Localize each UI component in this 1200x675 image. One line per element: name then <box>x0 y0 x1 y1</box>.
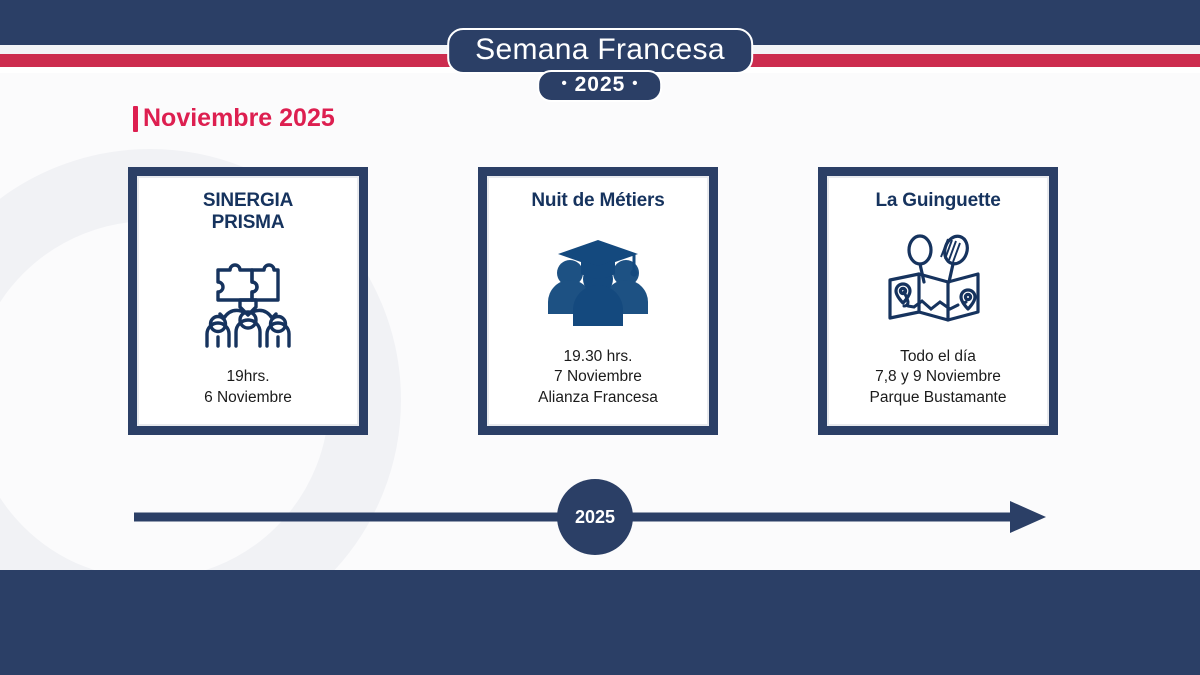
event-card-meta: 19hrs. 6 Noviembre <box>204 367 292 414</box>
graduates-group-icon <box>543 234 653 326</box>
event-card-inner: La Guinguette <box>827 176 1049 426</box>
event-card-meta-line-2: 7,8 y 9 Noviembre <box>869 367 1006 387</box>
event-card-inner: SINERGIA PRISMA <box>137 176 359 426</box>
event-card-title-line-1: La Guinguette <box>875 190 1000 212</box>
event-card-title-line-2: PRISMA <box>203 212 293 234</box>
event-card-meta: Todo el día 7,8 y 9 Noviembre Parque Bus… <box>869 347 1006 414</box>
event-card-title: SINERGIA PRISMA <box>203 190 293 235</box>
map-spoon-fork-icon <box>882 234 994 326</box>
month-accent-bar <box>133 106 138 132</box>
event-card-sinergia-prisma[interactable]: SINERGIA PRISMA <box>128 167 368 435</box>
event-card-inner: Nuit de Métiers <box>487 176 709 426</box>
timeline-year-label: 2025 <box>575 507 615 527</box>
event-card-title-line-1: Nuit de Métiers <box>531 190 664 212</box>
slide-canvas: Semana Francesa • 2025 • Noviembre 2025 … <box>0 0 1200 675</box>
event-card-la-guinguette[interactable]: La Guinguette <box>818 167 1058 435</box>
event-card-meta-line-1: 19.30 hrs. <box>538 347 658 367</box>
event-card-title: La Guinguette <box>875 190 1000 212</box>
event-card-icon-slot <box>147 235 349 367</box>
puzzle-teamwork-icon <box>194 254 302 348</box>
timeline: 2025 <box>0 470 1200 570</box>
timeline-arrow-head-icon <box>1010 501 1046 533</box>
event-card-meta: 19.30 hrs. 7 Noviembre Alianza Francesa <box>538 347 658 414</box>
event-card-meta-line-1: Todo el día <box>869 347 1006 367</box>
event-card-meta-line-2: 7 Noviembre <box>538 367 658 387</box>
banner-year-pill: • 2025 • <box>538 70 663 102</box>
event-card-title-line-1: SINERGIA <box>203 190 293 212</box>
event-card-meta-line-3: Parque Bustamante <box>869 388 1006 408</box>
month-label: Noviembre 2025 <box>143 104 335 133</box>
month-heading: Noviembre 2025 <box>133 104 335 133</box>
banner-dot-right: • <box>632 75 638 92</box>
banner-year: 2025 <box>575 73 626 96</box>
event-card-nuit-de-metiers[interactable]: Nuit de Métiers <box>478 167 718 435</box>
footer-bar <box>0 570 1200 675</box>
banner-dot-left: • <box>562 75 568 92</box>
event-card-icon-slot <box>837 212 1039 346</box>
event-card-icon-slot <box>497 212 699 346</box>
event-card-meta-line-1: 19hrs. <box>204 367 292 387</box>
event-card-meta-line-3: Alianza Francesa <box>538 388 658 408</box>
event-card-meta-line-2: 6 Noviembre <box>204 388 292 408</box>
banner-title: Semana Francesa <box>447 28 753 74</box>
event-banner: Semana Francesa • 2025 • <box>447 28 753 102</box>
event-card-title: Nuit de Métiers <box>531 190 664 212</box>
